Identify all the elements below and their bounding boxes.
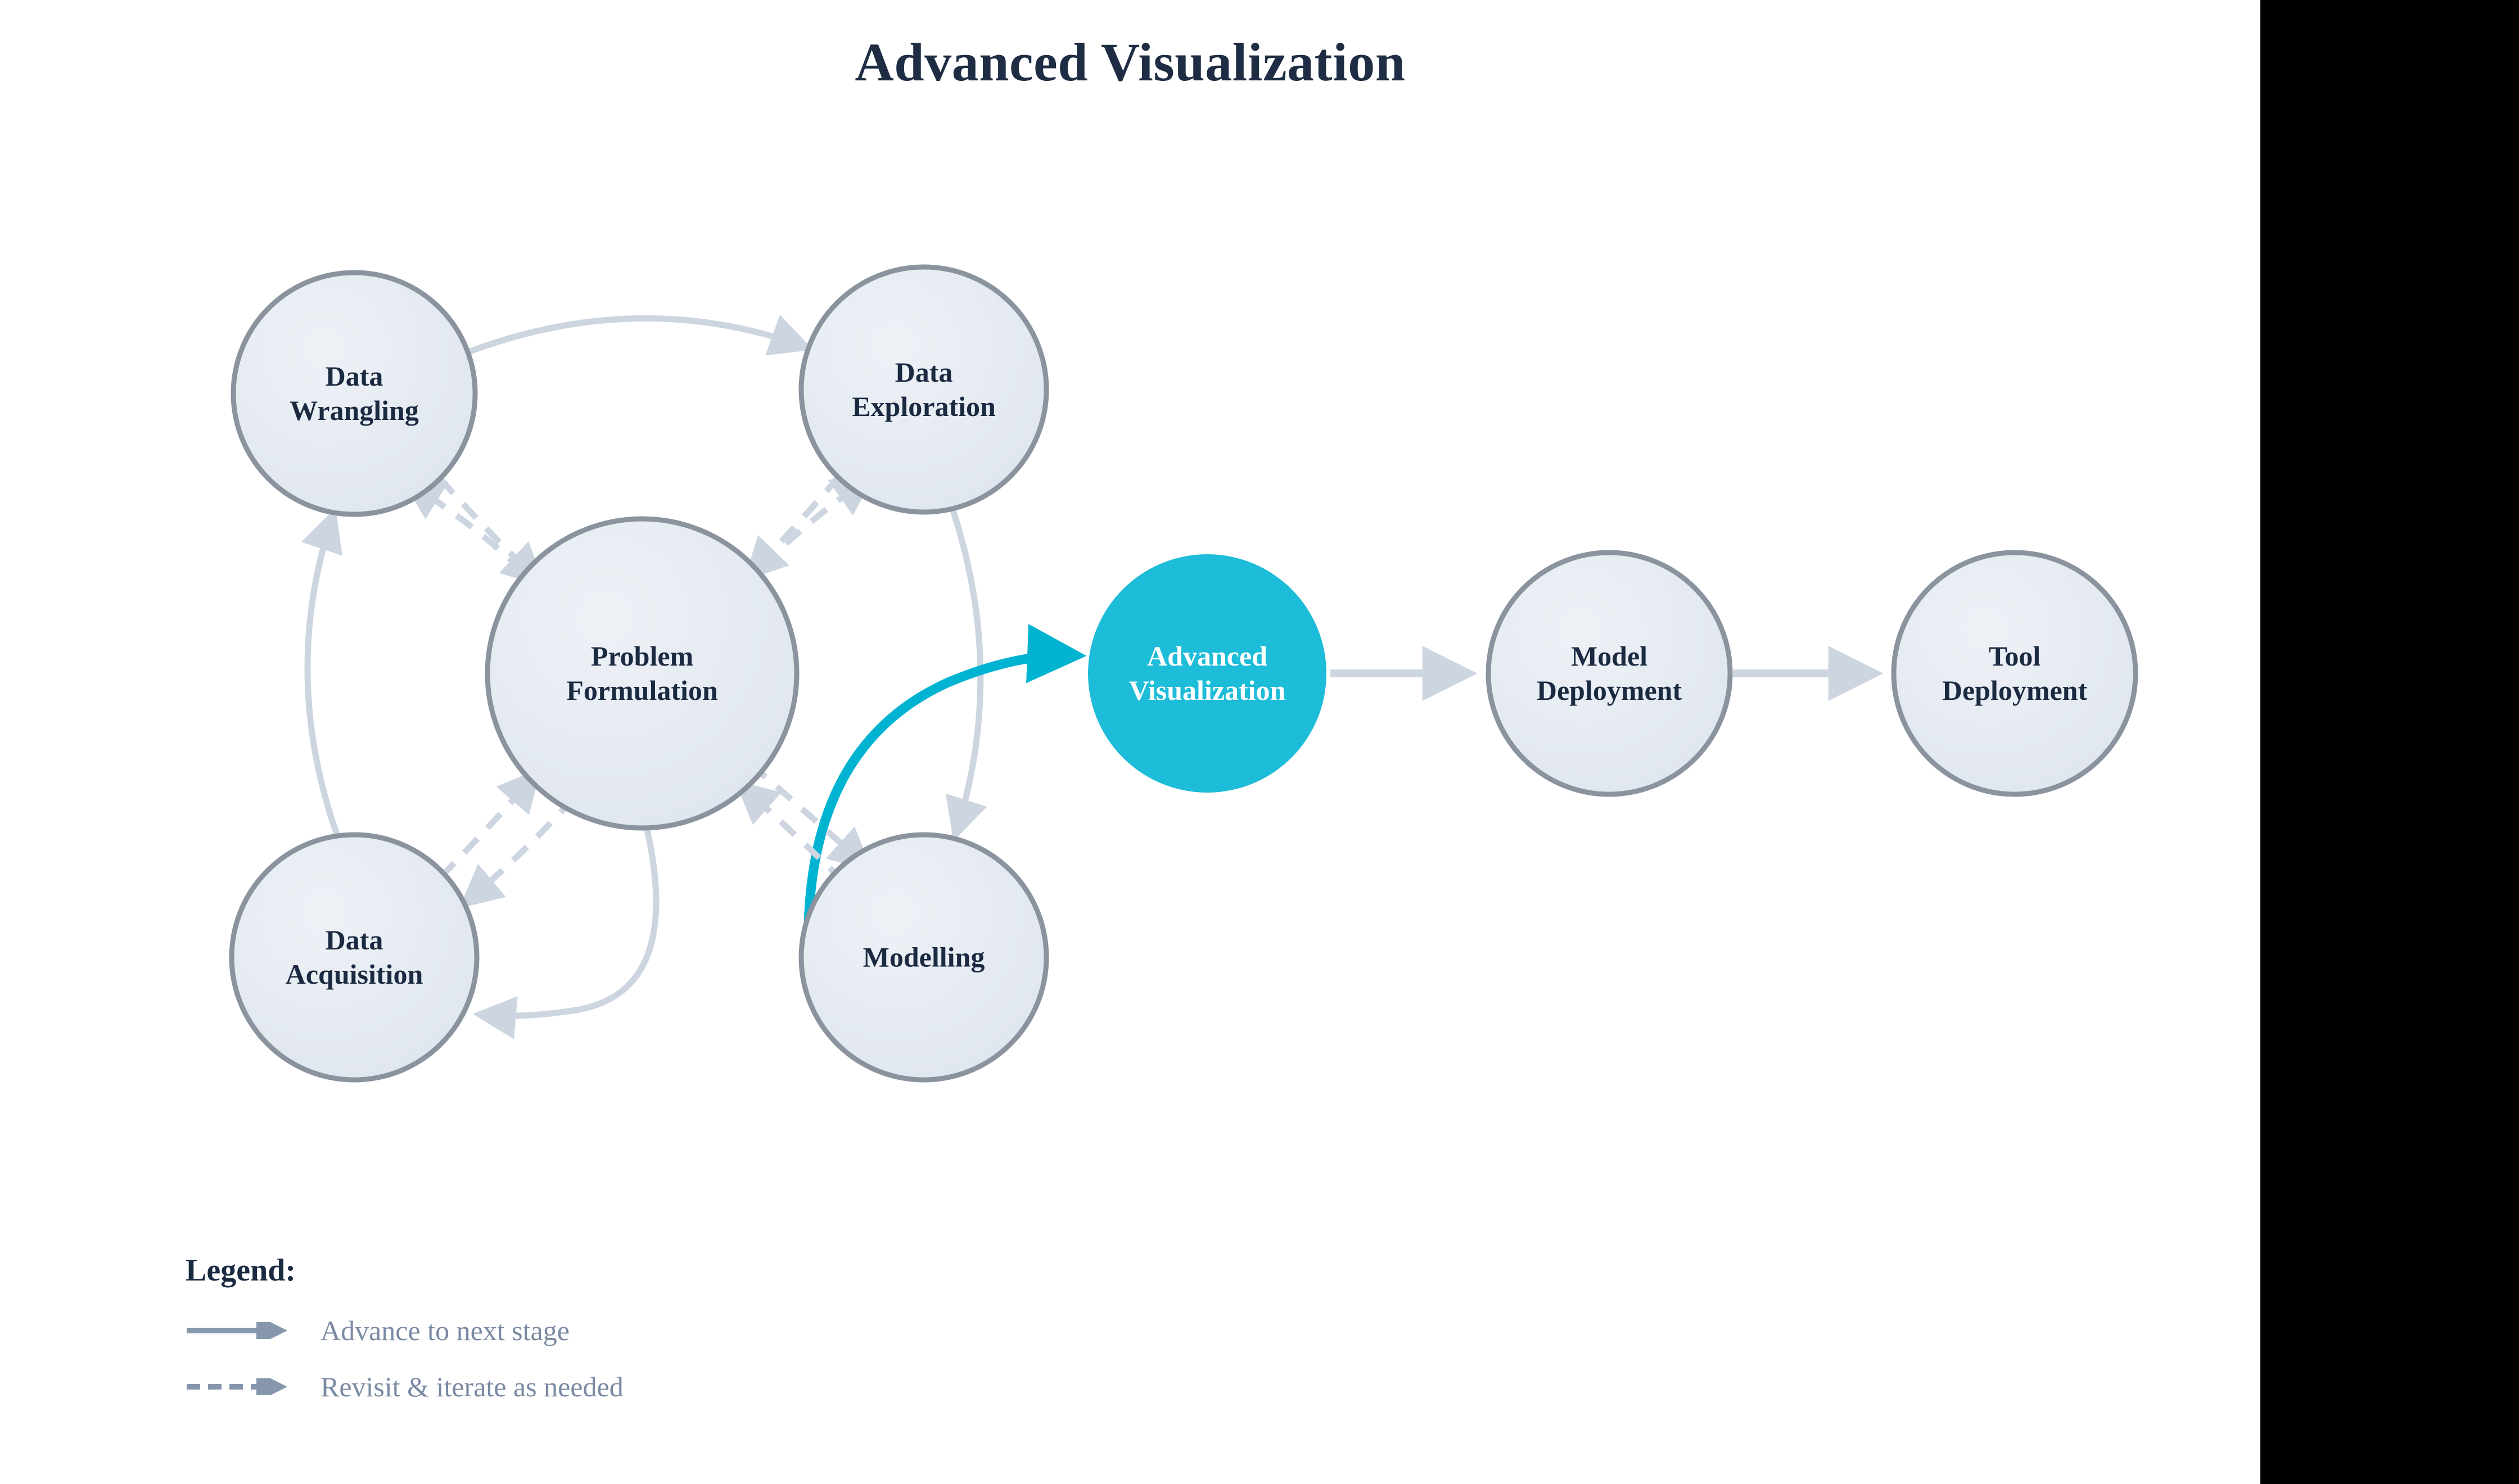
node-problem-formulation[interactable] [487,519,797,828]
legend-dashed-arrow-icon [186,1378,306,1395]
edge-problem-formulation-to-data-acquisition [481,827,656,1016]
edge-problem-formulation-to-data-acquisition [466,798,574,903]
legend-solid-arrow-icon [186,1322,306,1339]
node-modelling[interactable] [801,835,1046,1080]
workflow-graph [0,0,2519,1484]
node-data-exploration[interactable] [801,267,1046,512]
edge-data-wrangling-to-problem-formulation [440,479,539,581]
legend-label-advance: Advance to next stage [320,1314,570,1347]
edge-data-acquisition-to-data-wrangling [308,516,337,836]
right-black-panel [2260,0,2519,1484]
node-tool-deployment[interactable] [1894,553,2136,794]
node-data-acquisition[interactable] [232,835,477,1080]
node-model-deployment[interactable] [1488,553,1730,794]
edge-data-exploration-to-problem-formulation [750,477,839,575]
diagram-canvas: Advanced Visualization [0,0,2519,1484]
edge-data-wrangling-to-data-exploration [470,318,805,351]
edge-data-acquisition-to-problem-formulation [441,775,535,877]
legend-label-revisit: Revisit & iterate as needed [320,1370,624,1403]
legend-title: Legend: [186,1252,296,1288]
node-data-wrangling[interactable] [233,273,475,514]
edge-problem-formulation-to-data-wrangling [408,482,523,571]
node-advanced-visualization[interactable] [1088,554,1326,793]
